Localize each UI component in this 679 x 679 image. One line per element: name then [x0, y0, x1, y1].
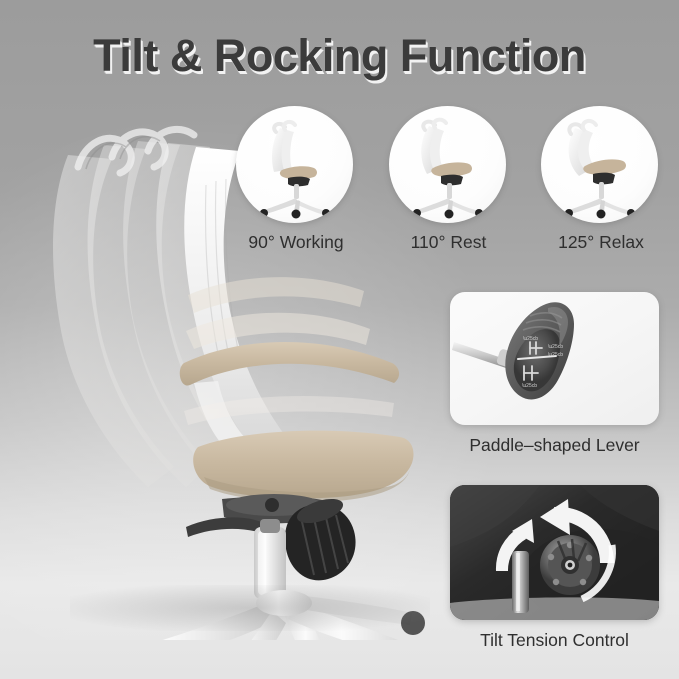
svg-text:\u25cb: \u25cb [548, 352, 563, 358]
feature-card-tilt-tension[interactable]: Tilt Tension Control [450, 485, 659, 651]
product-infographic: Tilt & Rocking Function [0, 0, 679, 679]
angle-badge-label: 110° Rest [389, 232, 509, 253]
angle-badge-rest[interactable]: 110° Rest [389, 106, 509, 253]
feature-card-image [450, 485, 659, 620]
svg-text:\u25cb: \u25cb [523, 336, 538, 342]
chair-side-110-icon [389, 106, 506, 223]
angle-badge-circle [389, 106, 506, 223]
feature-card-caption: Tilt Tension Control [450, 630, 659, 651]
feature-card-paddle-lever[interactable]: \u25cb \u25cb \u25cb \u25cb Paddle–shape… [450, 292, 659, 456]
chair-side-90-icon [236, 106, 353, 223]
svg-text:\u25cb: \u25cb [548, 344, 563, 350]
chair-side-125-icon [541, 106, 658, 223]
tension-knob-icon [450, 485, 659, 620]
paddle-lever-icon: \u25cb \u25cb \u25cb \u25cb [450, 292, 659, 425]
angle-badge-circle [541, 106, 658, 223]
angle-badge-group: 90° Working [236, 106, 661, 253]
feature-card-image: \u25cb \u25cb \u25cb \u25cb [450, 292, 659, 425]
angle-badge-label: 125° Relax [541, 232, 661, 253]
angle-badge-label: 90° Working [236, 232, 356, 253]
angle-badge-circle [236, 106, 353, 223]
feature-card-caption: Paddle–shaped Lever [450, 435, 659, 456]
angle-badge-relax[interactable]: 125° Relax [541, 106, 661, 253]
svg-text:\u25cb: \u25cb [522, 383, 537, 389]
angle-badge-working[interactable]: 90° Working [236, 106, 356, 253]
page-title: Tilt & Rocking Function [0, 30, 679, 82]
